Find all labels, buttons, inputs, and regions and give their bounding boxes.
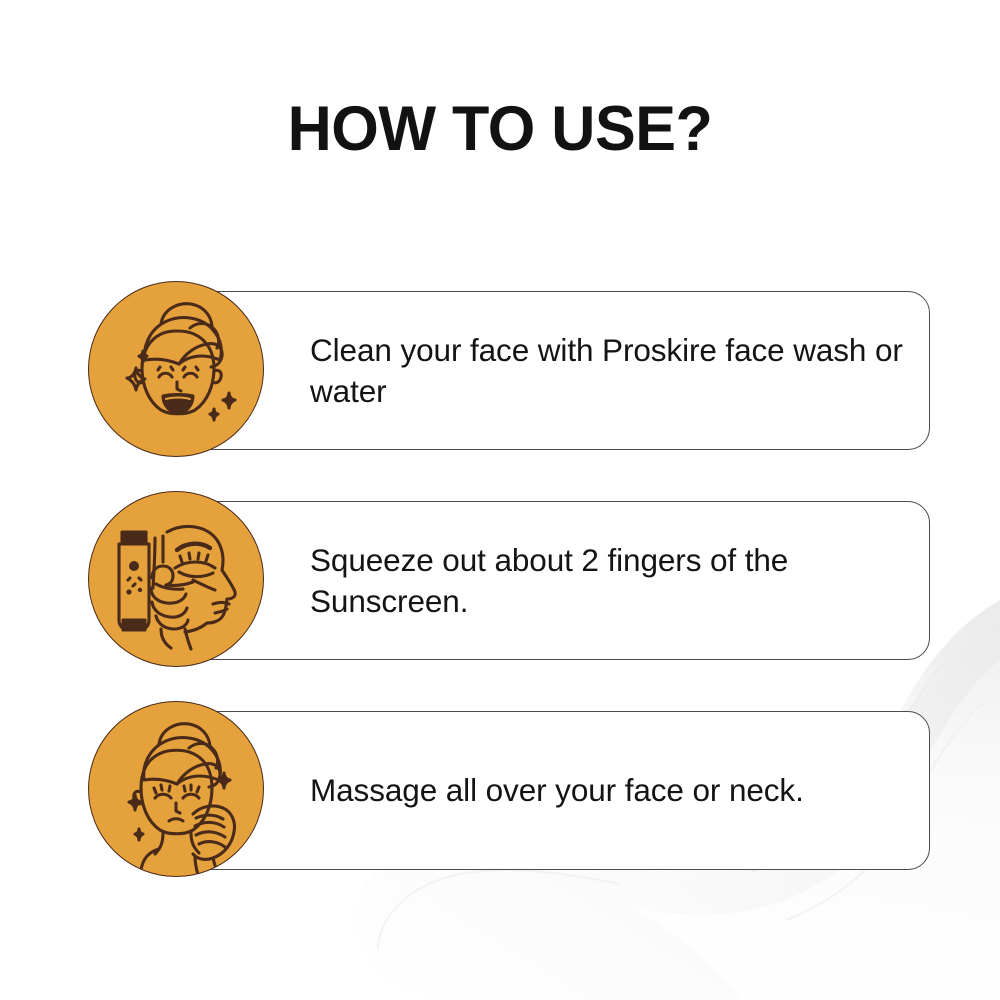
page-title: HOW TO USE? bbox=[15, 98, 985, 161]
step-row: Massage all over your face or neck. bbox=[88, 701, 930, 877]
face-massage-hand-icon bbox=[89, 702, 264, 877]
hand-applying-cream-tube-icon bbox=[89, 492, 264, 667]
step-text-label: Massage all over your face or neck. bbox=[310, 770, 804, 811]
step-icon-badge bbox=[88, 701, 264, 877]
step-text-label: Clean your face with Proskire face wash … bbox=[310, 330, 910, 412]
step-text: Squeeze out about 2 fingers of the Sunsc… bbox=[310, 501, 910, 660]
how-to-use-infographic: HOW TO USE? Clean your face with Proskir… bbox=[0, 0, 1000, 1000]
step-icon-badge bbox=[88, 281, 264, 457]
face-with-towel-smiling-icon bbox=[89, 282, 264, 457]
step-text-label: Squeeze out about 2 fingers of the Sunsc… bbox=[310, 540, 910, 622]
step-text: Clean your face with Proskire face wash … bbox=[310, 291, 910, 450]
step-row: Clean your face with Proskire face wash … bbox=[88, 281, 930, 457]
step-text: Massage all over your face or neck. bbox=[310, 711, 910, 870]
step-icon-badge bbox=[88, 491, 264, 667]
step-row: Squeeze out about 2 fingers of the Sunsc… bbox=[88, 491, 930, 667]
